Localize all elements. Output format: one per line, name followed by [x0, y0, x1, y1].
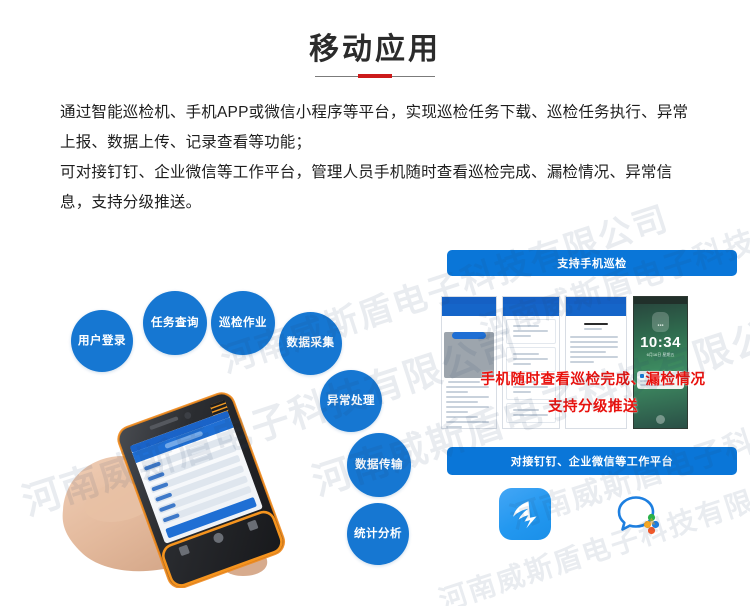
hand-holding-device-photo: [57, 380, 317, 588]
flow-bubble-inspection-job[interactable]: 巡检作业: [211, 291, 275, 355]
page-title: 移动应用: [0, 24, 750, 68]
wecom-logo[interactable]: [607, 492, 663, 540]
mobile-application-infographic: 移动应用 通过智能巡检机、手机APP或微信小程序等平台，实现巡检任务下载、巡检任…: [0, 0, 750, 606]
banner-workplatform-integration: 对接钉钉、企业微信等工作平台: [447, 447, 737, 475]
flow-bubble-data-transfer[interactable]: 数据传输: [347, 433, 411, 497]
flow-bubble-data-collect[interactable]: 数据采集: [279, 312, 342, 375]
app-screenshot-strip: ●●● 10:34 6月16日 星期五: [447, 296, 737, 436]
intro-paragraph-1: 通过智能巡检机、手机APP或微信小程序等平台，实现巡检任务下载、巡检任务执行、异…: [60, 98, 698, 158]
dingtalk-logo[interactable]: [499, 488, 551, 540]
flow-bubble-statistics[interactable]: 统计分析: [347, 503, 409, 565]
flow-bubble-user-login[interactable]: 用户登录: [71, 310, 133, 372]
flow-bubble-task-query[interactable]: 任务查询: [143, 291, 207, 355]
lockscreen-time: 10:34: [634, 334, 687, 351]
intro-paragraphs: 通过智能巡检机、手机APP或微信小程序等平台，实现巡检任务下载、巡检任务执行、异…: [60, 98, 698, 218]
app-screenshot-notice-detail[interactable]: [565, 296, 627, 429]
lockscreen-date: 6月16日 星期五: [634, 352, 687, 358]
app-screenshot-inspection-stats[interactable]: [441, 296, 497, 429]
app-screenshot-message-list[interactable]: [502, 296, 560, 429]
banner-supports-mobile-inspection: 支持手机巡检: [447, 250, 737, 276]
flow-bubble-exception[interactable]: 异常处理: [320, 370, 382, 432]
mobile-inspection-panel: 支持手机巡检: [447, 250, 737, 590]
partner-logos: [499, 488, 699, 548]
app-screenshot-lockscreen-push[interactable]: ●●● 10:34 6月16日 星期五: [633, 296, 688, 429]
process-flow-illustration: 用户登录 任务查询 巡检作业 数据采集 异常处理 数据传输 统计分析: [25, 288, 445, 588]
lockscreen-notification-card[interactable]: [637, 371, 684, 389]
intro-paragraph-2: 可对接钉钉、企业微信等工作平台，管理人员手机随时查看巡检完成、漏检情况、异常信息…: [60, 158, 698, 218]
title-divider-accent: [358, 74, 392, 78]
